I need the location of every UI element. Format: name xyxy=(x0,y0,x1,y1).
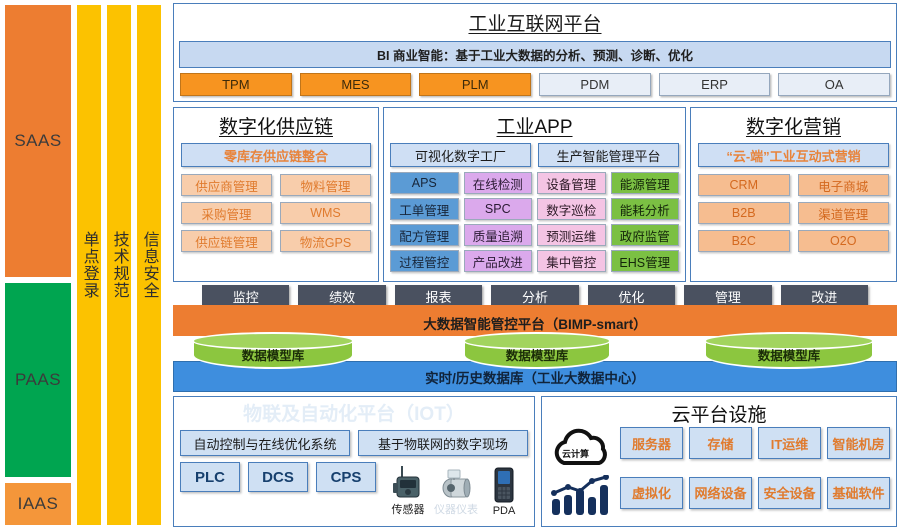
data-model-repo-3: 数据模型库 xyxy=(704,336,874,369)
iot-dcs[interactable]: DCS xyxy=(248,462,308,492)
app-cell-equipment-mgmt[interactable]: 设备管理 xyxy=(537,172,606,194)
cloud-panel: 云平台设施 云计算 xyxy=(541,396,897,527)
iot-plc[interactable]: PLC xyxy=(180,462,240,492)
bi-bar: BI 商业智能：基于工业大数据的分析、预测、诊断、优化 xyxy=(179,41,891,68)
system-chip-mes[interactable]: MES xyxy=(300,73,412,96)
layer-paas-label: PAAS xyxy=(15,370,61,390)
iot-device-sensor-label: 传感器 xyxy=(385,501,431,517)
iot-digital-site[interactable]: 基于物联网的数字现场 xyxy=(358,430,528,456)
iot-panel: 物联及自动化平台（IOT） 自动控制与在线优化系统 基于物联网的数字现场 PLC… xyxy=(173,396,535,527)
supply-cell-4[interactable]: 供应链管理 xyxy=(181,230,272,252)
app-cell-quality-trace[interactable]: 质量追溯 xyxy=(464,224,533,246)
app-cell-ehs-mgmt[interactable]: EHS管理 xyxy=(611,250,680,272)
diagram-root: SAAS PAAS IAAS 单点登录 技术规范 信息安全 工业互联网平台 BI… xyxy=(0,0,900,530)
app-cell-energy-analysis[interactable]: 能耗分析 xyxy=(611,198,680,220)
supply-cell-2[interactable]: 采购管理 xyxy=(181,202,272,224)
industrial-app-header-1: 生产智能管理平台 xyxy=(538,143,679,167)
iot-device-meter: 仪器仪表 xyxy=(433,462,479,517)
strip-single-sign-on-label: 单点登录 xyxy=(80,231,97,299)
layer-iaas-label: IAAS xyxy=(18,494,59,514)
supply-chain-header: 零库存供应链整合 xyxy=(181,143,371,167)
marketing-cell-3[interactable]: 渠道管理 xyxy=(798,202,890,224)
app-cell-gov-supervision[interactable]: 政府监管 xyxy=(611,224,680,246)
layer-paas: PAAS xyxy=(4,282,72,478)
app-cell-recipe-mgmt[interactable]: 配方管理 xyxy=(390,224,459,246)
strip-tech-standard: 技术规范 xyxy=(106,4,132,526)
system-chip-row: TPM MES PLM PDM ERP OA xyxy=(180,73,890,96)
bar-chart-icon xyxy=(548,475,620,519)
cloud-title: 云平台设施 xyxy=(542,397,896,427)
industrial-app-header-0: 可视化数字工厂 xyxy=(390,143,531,167)
bimp-band-label: 大数据智能管控平台（BIMP-smart） xyxy=(423,313,647,333)
app-cell-work-order[interactable]: 工单管理 xyxy=(390,198,459,220)
marketing-grid: CRM 电子商城 B2B 渠道管理 B2C O2O xyxy=(698,174,889,252)
supply-chain-panel: 数字化供应链 零库存供应链整合 供应商管理 物料管理 采购管理 WMS 供应链管… xyxy=(173,107,379,282)
system-chip-pdm[interactable]: PDM xyxy=(539,73,651,96)
app-cell-product-improve[interactable]: 产品改进 xyxy=(464,250,533,272)
cloud-cell-server[interactable]: 服务器 xyxy=(620,427,683,459)
iot-device-sensor: 传感器 xyxy=(385,462,431,517)
app-cell-online-detect[interactable]: 在线检测 xyxy=(464,172,533,194)
iot-device-pda-label: PDA xyxy=(481,505,527,517)
cloud-cell-storage[interactable]: 存储 xyxy=(689,427,752,459)
data-model-repo-1-label: 数据模型库 xyxy=(192,344,354,364)
strip-single-sign-on: 单点登录 xyxy=(76,4,102,526)
layer-iaas: IAAS xyxy=(4,482,72,526)
iot-header-row: 自动控制与在线优化系统 基于物联网的数字现场 xyxy=(180,430,528,456)
supply-cell-5[interactable]: 物流GPS xyxy=(280,230,371,252)
realtime-history-db-label: 实时/历史数据库（工业大数据中心） xyxy=(425,367,645,387)
app-cell-energy-mgmt[interactable]: 能源管理 xyxy=(611,172,680,194)
iot-content-row: PLC DCS CPS xyxy=(180,462,528,517)
layer-saas-label: SAAS xyxy=(14,131,61,151)
layer-saas: SAAS xyxy=(4,4,72,278)
marketing-title: 数字化营销 xyxy=(691,108,896,139)
iot-cps[interactable]: CPS xyxy=(316,462,376,492)
app-cell-central-control[interactable]: 集中管控 xyxy=(537,250,606,272)
supply-cell-1[interactable]: 物料管理 xyxy=(280,174,371,196)
sensor-icon xyxy=(385,462,431,500)
app-cell-predictive-ops[interactable]: 预测运维 xyxy=(537,224,606,246)
system-chip-tpm[interactable]: TPM xyxy=(180,73,292,96)
marketing-cell-4[interactable]: B2C xyxy=(698,230,790,252)
cloud-cell-basic-sw[interactable]: 基础软件 xyxy=(827,477,890,509)
cloud-body: 云计算 xyxy=(548,427,890,519)
iot-title: 物联及自动化平台（IOT） xyxy=(174,397,534,426)
system-chip-oa[interactable]: OA xyxy=(778,73,890,96)
cloud-cell-network[interactable]: 网络设备 xyxy=(689,477,752,509)
industrial-app-title: 工业APP xyxy=(384,108,685,139)
marketing-panel: 数字化营销 “云-端”工业互动式营销 CRM 电子商城 B2B 渠道管理 B2C… xyxy=(690,107,897,282)
strip-info-security: 信息安全 xyxy=(136,4,162,526)
meter-icon xyxy=(433,462,479,500)
app-cell-aps[interactable]: APS xyxy=(390,172,459,194)
data-model-repo-1: 数据模型库 xyxy=(192,336,354,369)
app-cell-digital-patrol[interactable]: 数字巡检 xyxy=(537,198,606,220)
iot-device-group: 传感器 仪器仪表 xyxy=(384,462,528,517)
platform-title: 工业互联网平台 xyxy=(174,4,896,36)
cloud-cell-virtualization[interactable]: 虚拟化 xyxy=(620,477,683,509)
data-model-repo-3-label: 数据模型库 xyxy=(704,344,874,364)
supply-cell-3[interactable]: WMS xyxy=(280,202,371,224)
data-model-repo-2-label: 数据模型库 xyxy=(463,344,611,364)
cloud-cell-it-ops[interactable]: IT运维 xyxy=(758,427,821,459)
industrial-app-panel: 工业APP 可视化数字工厂 生产智能管理平台 APS 在线检测 设备管理 能源管… xyxy=(383,107,686,282)
supply-chain-grid: 供应商管理 物料管理 采购管理 WMS 供应链管理 物流GPS xyxy=(181,174,371,252)
marketing-cell-1[interactable]: 电子商城 xyxy=(798,174,890,196)
app-cell-spc[interactable]: SPC xyxy=(464,198,533,220)
marketing-cell-5[interactable]: O2O xyxy=(798,230,890,252)
supply-chain-title: 数字化供应链 xyxy=(174,108,378,139)
iot-device-meter-label: 仪器仪表 xyxy=(433,501,479,517)
iot-controller-group: PLC DCS CPS xyxy=(180,462,376,517)
marketing-cell-0[interactable]: CRM xyxy=(698,174,790,196)
marketing-header: “云-端”工业互动式营销 xyxy=(698,143,889,167)
strip-info-security-label: 信息安全 xyxy=(140,231,157,299)
pda-icon xyxy=(481,466,527,504)
marketing-cell-2[interactable]: B2B xyxy=(698,202,790,224)
cloud-service-grid: 服务器 存储 IT运维 智能机房 虚拟化 网络设备 安全设备 基础软件 xyxy=(620,427,890,519)
app-cell-process-control[interactable]: 过程管控 xyxy=(390,250,459,272)
cloud-icon-column: 云计算 xyxy=(548,427,620,519)
system-chip-plm[interactable]: PLM xyxy=(419,73,531,96)
iot-device-pda: PDA xyxy=(481,466,527,517)
cloud-computing-icon: 云计算 xyxy=(548,427,620,475)
supply-cell-0[interactable]: 供应商管理 xyxy=(181,174,272,196)
data-model-repo-2: 数据模型库 xyxy=(463,336,611,369)
cloud-cell-security[interactable]: 安全设备 xyxy=(758,477,821,509)
cloud-cell-smart-room[interactable]: 智能机房 xyxy=(827,427,890,459)
iot-auto-control[interactable]: 自动控制与在线优化系统 xyxy=(180,430,350,456)
industrial-app-grid: APS 在线检测 设备管理 能源管理 工单管理 SPC 数字巡检 能耗分析 配方… xyxy=(390,172,679,272)
strip-tech-standard-label: 技术规范 xyxy=(110,231,127,299)
system-chip-erp[interactable]: ERP xyxy=(659,73,771,96)
platform-panel: 工业互联网平台 BI 商业智能：基于工业大数据的分析、预测、诊断、优化 TPM … xyxy=(173,3,897,102)
industrial-app-header-row: 可视化数字工厂 生产智能管理平台 xyxy=(390,143,679,167)
cloud-computing-icon-label: 云计算 xyxy=(562,447,589,460)
